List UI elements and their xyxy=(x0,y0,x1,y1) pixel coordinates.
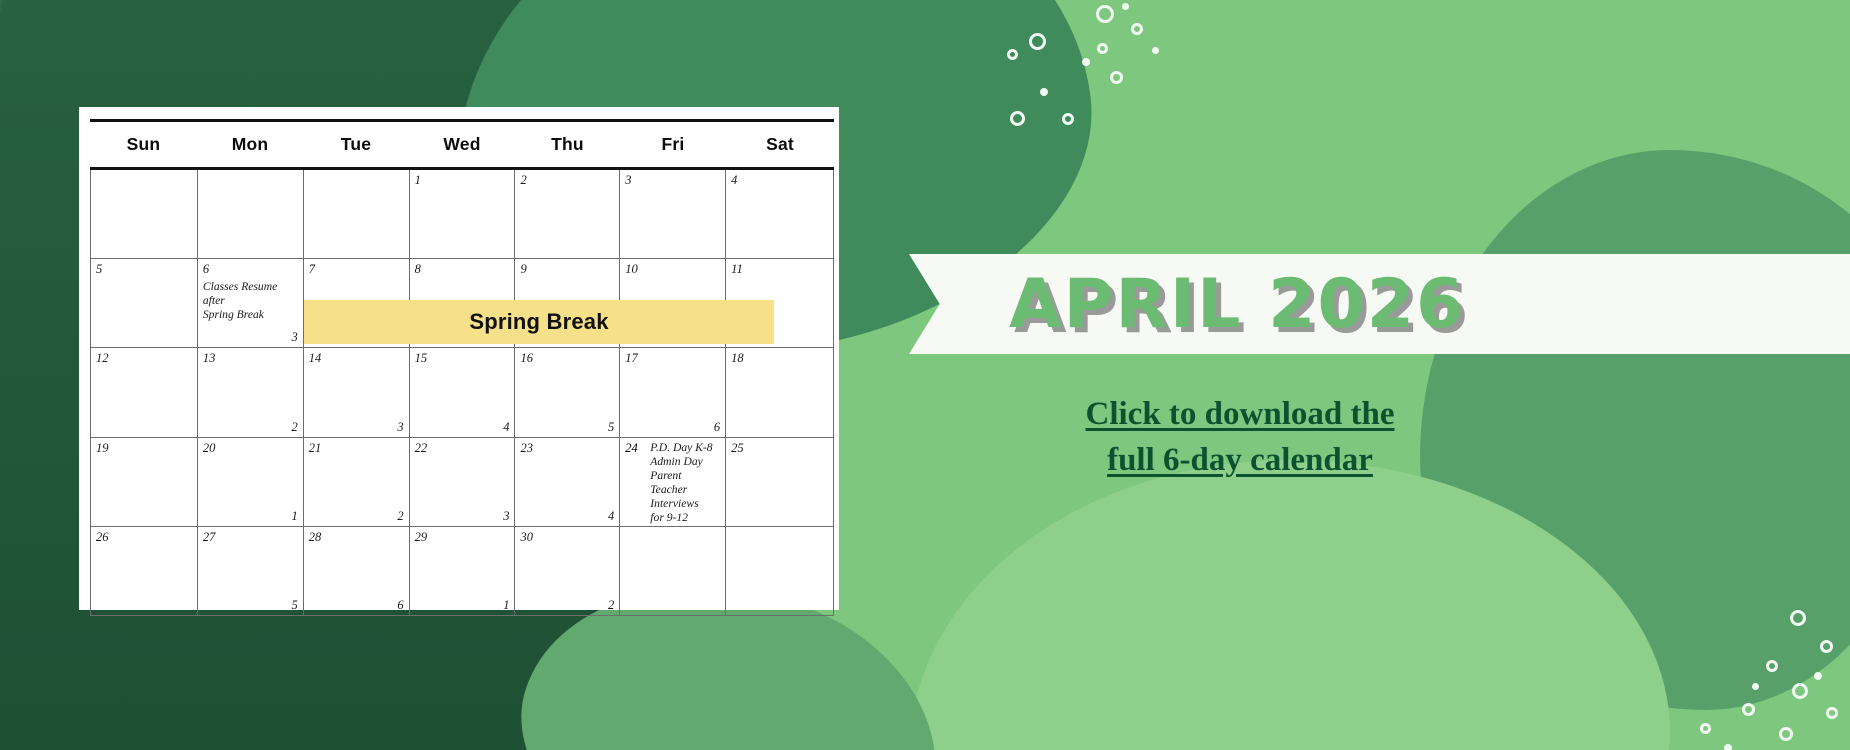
day-of-week-header-row: SunMonTueWedThuFriSat xyxy=(90,122,834,167)
day-number: 6 xyxy=(203,262,209,277)
calendar-day-cell-29[interactable]: 291 xyxy=(410,527,516,615)
day-header-wed: Wed xyxy=(409,134,515,155)
day-number: 20 xyxy=(203,441,216,456)
calendar-week-row: 1234 xyxy=(91,170,834,259)
day-header-sat: Sat xyxy=(726,134,834,155)
day-note: P.D. Day K-8 Admin Day Parent Teacher In… xyxy=(650,441,722,526)
calendar-day-cell-empty[interactable] xyxy=(620,527,726,615)
day-number: 12 xyxy=(96,351,109,366)
calendar-day-cell-21[interactable]: 212 xyxy=(304,438,410,526)
calendar-day-cell-5[interactable]: 5 xyxy=(91,259,198,347)
calendar-day-cell-1[interactable]: 1 xyxy=(410,170,516,258)
cycle-day-number: 4 xyxy=(503,420,509,435)
day-number: 5 xyxy=(96,262,102,277)
day-header-tue: Tue xyxy=(303,134,409,155)
calendar-day-cell-18[interactable]: 18 xyxy=(726,348,834,437)
calendar-weeks: 123456Classes Resume after Spring Break3… xyxy=(90,170,834,616)
download-link-line2: full 6-day calendar xyxy=(1020,438,1460,484)
download-calendar-link[interactable]: Click to download the full 6-day calenda… xyxy=(1020,392,1460,483)
cycle-day-number: 1 xyxy=(503,598,509,613)
cycle-day-number: 5 xyxy=(608,420,614,435)
calendar-day-cell-13[interactable]: 132 xyxy=(198,348,304,437)
cycle-day-number: 2 xyxy=(397,509,403,524)
day-header-sun: Sun xyxy=(90,134,197,155)
day-number: 2 xyxy=(520,173,526,188)
calendar-day-cell-14[interactable]: 143 xyxy=(304,348,410,437)
day-header-thu: Thu xyxy=(515,134,620,155)
calendar-day-cell-16[interactable]: 165 xyxy=(515,348,620,437)
cycle-day-number: 1 xyxy=(291,509,297,524)
calendar-day-cell-30[interactable]: 302 xyxy=(515,527,620,615)
calendar-day-cell-23[interactable]: 234 xyxy=(515,438,620,526)
spring-break-banner: Spring Break xyxy=(304,300,774,344)
day-number: 8 xyxy=(415,262,421,277)
calendar-day-cell-12[interactable]: 12 xyxy=(91,348,198,437)
day-number: 9 xyxy=(520,262,526,277)
download-link-line1: Click to download the xyxy=(1086,396,1395,432)
calendar-week-row: 26275286291302 xyxy=(91,527,834,616)
calendar-day-cell-24[interactable]: 24P.D. Day K-8 Admin Day Parent Teacher … xyxy=(620,438,726,526)
day-number: 15 xyxy=(415,351,428,366)
day-number: 22 xyxy=(415,441,428,456)
calendar-day-cell-26[interactable]: 26 xyxy=(91,527,198,615)
calendar-day-cell-22[interactable]: 223 xyxy=(410,438,516,526)
day-number: 13 xyxy=(203,351,216,366)
calendar-week-row: 1920121222323424P.D. Day K-8 Admin Day P… xyxy=(91,438,834,527)
day-number: 18 xyxy=(731,351,744,366)
day-number: 24 xyxy=(625,441,638,456)
day-number: 19 xyxy=(96,441,109,456)
calendar-grid: SunMonTueWedThuFriSat 123456Classes Resu… xyxy=(90,119,834,602)
calendar-day-cell-empty[interactable] xyxy=(91,170,198,258)
day-number: 28 xyxy=(309,530,322,545)
day-number: 16 xyxy=(520,351,533,366)
page-root: SunMonTueWedThuFriSat 123456Classes Resu… xyxy=(0,0,1850,750)
day-number: 1 xyxy=(415,173,421,188)
cycle-day-number: 2 xyxy=(291,420,297,435)
calendar-day-cell-6[interactable]: 6Classes Resume after Spring Break3 xyxy=(198,259,304,347)
calendar-day-cell-20[interactable]: 201 xyxy=(198,438,304,526)
calendar-day-cell-25[interactable]: 25 xyxy=(726,438,834,526)
calendar-week-row: 1213214315416517618 xyxy=(91,348,834,438)
calendar-day-cell-3[interactable]: 3 xyxy=(620,170,726,258)
day-number: 27 xyxy=(203,530,216,545)
day-number: 23 xyxy=(520,441,533,456)
day-number: 30 xyxy=(520,530,533,545)
month-year-ribbon: APRIL 2026 xyxy=(909,254,1850,354)
cycle-day-number: 6 xyxy=(397,598,403,613)
cycle-day-number: 3 xyxy=(397,420,403,435)
calendar-day-cell-empty[interactable] xyxy=(726,527,834,615)
calendar-day-cell-empty[interactable] xyxy=(198,170,304,258)
day-number: 4 xyxy=(731,173,737,188)
day-note: Classes Resume after Spring Break xyxy=(203,280,299,322)
cycle-day-number: 3 xyxy=(291,330,297,345)
day-number: 3 xyxy=(625,173,631,188)
calendar-day-cell-2[interactable]: 2 xyxy=(515,170,620,258)
cycle-day-number: 5 xyxy=(291,598,297,613)
day-header-mon: Mon xyxy=(197,134,303,155)
calendar-day-cell-19[interactable]: 19 xyxy=(91,438,198,526)
day-number: 11 xyxy=(731,262,743,277)
day-number: 29 xyxy=(415,530,428,545)
calendar-day-cell-empty[interactable] xyxy=(304,170,410,258)
cycle-day-number: 3 xyxy=(503,509,509,524)
cycle-day-number: 6 xyxy=(714,420,720,435)
day-number: 7 xyxy=(309,262,315,277)
day-number: 10 xyxy=(625,262,638,277)
calendar-day-cell-15[interactable]: 154 xyxy=(410,348,516,437)
day-number: 21 xyxy=(309,441,322,456)
calendar-card: SunMonTueWedThuFriSat 123456Classes Resu… xyxy=(79,107,839,610)
calendar-day-cell-4[interactable]: 4 xyxy=(726,170,834,258)
calendar-day-cell-28[interactable]: 286 xyxy=(304,527,410,615)
calendar-day-cell-17[interactable]: 176 xyxy=(620,348,726,437)
day-number: 17 xyxy=(625,351,638,366)
day-number: 26 xyxy=(96,530,109,545)
day-number: 14 xyxy=(309,351,322,366)
day-header-fri: Fri xyxy=(620,134,726,155)
cycle-day-number: 4 xyxy=(608,509,614,524)
calendar-day-cell-27[interactable]: 275 xyxy=(198,527,304,615)
day-number: 25 xyxy=(731,441,744,456)
cycle-day-number: 2 xyxy=(608,598,614,613)
month-year-title: APRIL 2026 xyxy=(1009,265,1465,344)
